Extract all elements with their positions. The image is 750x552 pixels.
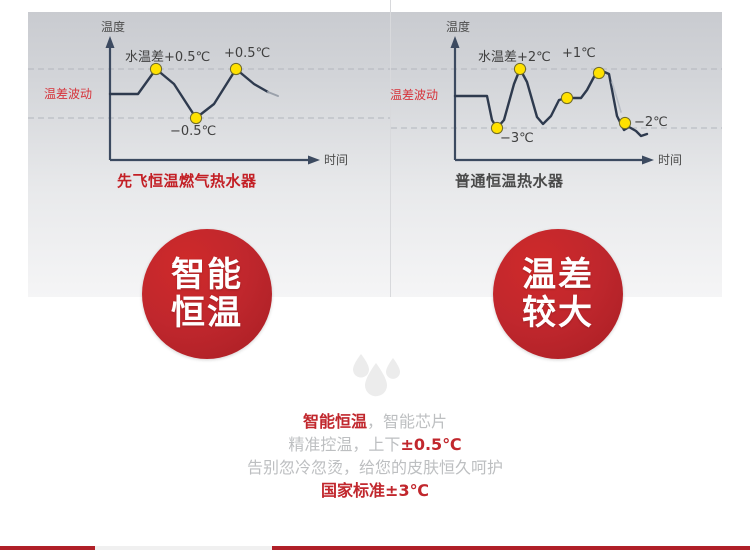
data-marker (150, 63, 161, 74)
bottom-rule-right (272, 546, 750, 550)
data-marker (230, 63, 241, 74)
badge-large-variance: 温差 较大 (493, 229, 623, 359)
band-label: 温差波动 (390, 86, 438, 103)
badge-left-line1: 智能 (171, 256, 243, 294)
badge-left-line2: 恒温 (171, 294, 243, 332)
copy-line-2-gray: 精准控温，上下 (288, 435, 400, 454)
y-axis-label: 温度 (101, 18, 125, 35)
data-marker (190, 112, 201, 123)
drop-small-right (386, 358, 400, 379)
drop-small-left (353, 354, 369, 378)
copy-line-4: 国家标准±3℃ (0, 479, 750, 502)
annotation-peak-1: 水温差+2℃ (478, 46, 551, 65)
chart-left-caption: 先飞恒温燃气热水器 (117, 170, 257, 191)
water-drops-icon (345, 352, 407, 400)
copy-line-1-red: 智能恒温 (303, 412, 367, 431)
data-marker (619, 117, 630, 128)
annotation-peak-2: +1℃ (562, 46, 596, 61)
annotation-valley-1: −3℃ (500, 131, 534, 146)
copy-line-1-comma: ， (367, 412, 383, 431)
product-comparison-page: 温度 时间 温差波动 水温差+0.5℃ +0.5℃ −0.5℃ 先飞恒温燃气热水… (0, 0, 750, 552)
badge-right-line2: 较大 (522, 294, 594, 332)
copy-line-1-gray: 智能芯片 (383, 412, 447, 431)
marketing-copy: 智能恒温，智能芯片 精准控温，上下±0.5℃ 告别忽冷忽烫，给您的皮肤恒久呵护 … (0, 410, 750, 502)
y-axis-arrow (451, 36, 460, 48)
x-axis-label: 时间 (324, 151, 348, 168)
bottom-rule-left (0, 546, 95, 550)
y-axis-label: 温度 (446, 18, 470, 35)
x-axis-arrow (308, 156, 320, 165)
temperature-line-tail (268, 92, 278, 96)
badge-right-text: 温差 较大 (522, 256, 594, 332)
annotation-valley-1: −0.5℃ (170, 124, 216, 139)
data-marker (561, 92, 572, 103)
badge-left-text: 智能 恒温 (171, 256, 243, 332)
copy-line-1: 智能恒温，智能芯片 (0, 410, 750, 433)
annotation-valley-2: −2℃ (634, 115, 668, 130)
copy-line-3: 告别忽冷忽烫，给您的皮肤恒久呵护 (0, 456, 750, 479)
data-marker (514, 63, 525, 74)
copy-line-2: 精准控温，上下±0.5℃ (0, 433, 750, 456)
temperature-line (110, 69, 268, 118)
y-axis-arrow (106, 36, 115, 48)
water-drops-svg (345, 352, 407, 400)
data-marker (593, 67, 604, 78)
band-label: 温差波动 (44, 85, 92, 102)
badge-right-line1: 温差 (522, 256, 594, 294)
annotation-peak-2: +0.5℃ (224, 46, 270, 61)
annotation-peak-1: 水温差+0.5℃ (125, 46, 210, 65)
badge-smart-thermostat: 智能 恒温 (142, 229, 272, 359)
x-axis-arrow (642, 156, 654, 165)
bottom-rule-gap (95, 546, 272, 550)
x-axis-label: 时间 (658, 151, 682, 168)
copy-line-2-red: ±0.5℃ (400, 435, 461, 454)
chart-right-caption: 普通恒温热水器 (455, 170, 564, 191)
